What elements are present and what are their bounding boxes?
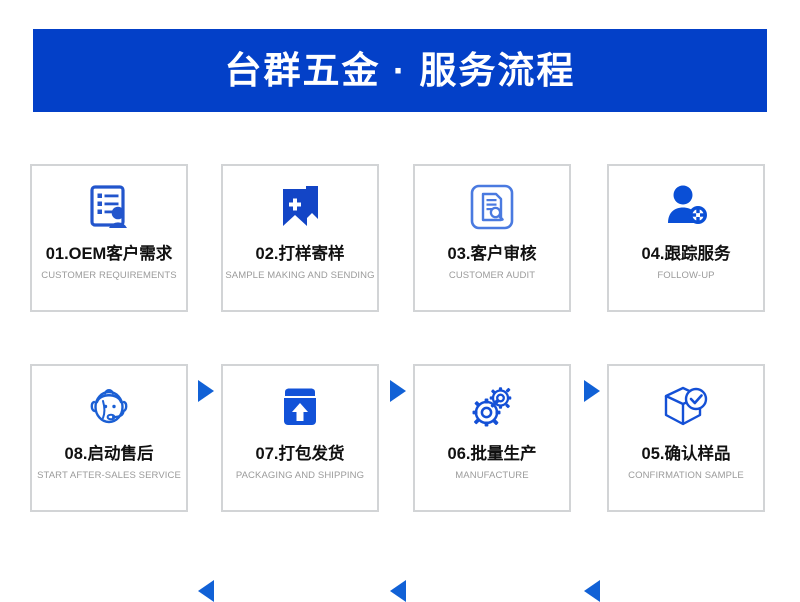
flow-step-subtitle: START AFTER-SALES SERVICE bbox=[37, 470, 181, 481]
flow-step-title: 07.打包发货 bbox=[256, 445, 345, 463]
package-upload-icon bbox=[274, 370, 326, 444]
flow-arrow-left-icon bbox=[390, 580, 406, 602]
person-badge-icon bbox=[660, 170, 712, 244]
clipboard-person-icon bbox=[83, 170, 135, 244]
flow-step-subtitle: CUSTOMER AUDIT bbox=[449, 270, 535, 281]
flow-step-subtitle: CUSTOMER REQUIREMENTS bbox=[41, 270, 176, 281]
flow-step-title: 03.客户审核 bbox=[448, 245, 537, 263]
flow-step-card-07[interactable]: 07.打包发货 PACKAGING AND SHIPPING bbox=[221, 364, 379, 512]
flow-step-card-04[interactable]: 04.跟踪服务 FOLLOW-UP bbox=[607, 164, 765, 312]
flow-step-title: 08.启动售后 bbox=[65, 445, 154, 463]
box-check-icon bbox=[660, 370, 712, 444]
flow-step-subtitle: PACKAGING AND SHIPPING bbox=[236, 470, 364, 481]
flow-step-title: 01.OEM客户需求 bbox=[46, 245, 173, 263]
flow-step-card-03[interactable]: 03.客户审核 CUSTOMER AUDIT bbox=[413, 164, 571, 312]
flow-step-subtitle: FOLLOW-UP bbox=[657, 270, 714, 281]
flow-step-subtitle: CONFIRMATION SAMPLE bbox=[628, 470, 744, 481]
flow-step-card-08[interactable]: 08.启动售后 START AFTER-SALES SERVICE bbox=[30, 364, 188, 512]
gears-icon bbox=[466, 370, 518, 444]
flow-step-title: 02.打样寄样 bbox=[256, 245, 345, 263]
flow-row-bottom: 08.启动售后 START AFTER-SALES SERVICE 07.打包发… bbox=[0, 350, 800, 525]
process-flow-diagram: 01.OEM客户需求 CUSTOMER REQUIREMENTS 02.打样寄样… bbox=[0, 150, 800, 525]
document-search-icon bbox=[466, 170, 518, 244]
page-title: 台群五金 · 服务流程 bbox=[225, 52, 576, 89]
flow-step-subtitle: SAMPLE MAKING AND SENDING bbox=[225, 270, 374, 281]
flow-arrow-left-icon bbox=[198, 580, 214, 602]
flow-arrow-left-icon bbox=[584, 580, 600, 602]
flow-step-card-05[interactable]: 05.确认样品 CONFIRMATION SAMPLE bbox=[607, 364, 765, 512]
flow-step-card-02[interactable]: 02.打样寄样 SAMPLE MAKING AND SENDING bbox=[221, 164, 379, 312]
flow-row-top: 01.OEM客户需求 CUSTOMER REQUIREMENTS 02.打样寄样… bbox=[0, 150, 800, 325]
flow-step-title: 05.确认样品 bbox=[642, 445, 731, 463]
flow-step-subtitle: MANUFACTURE bbox=[455, 470, 528, 481]
headset-support-icon bbox=[83, 370, 135, 444]
bookmark-plus-icon bbox=[274, 170, 326, 244]
flow-step-title: 04.跟踪服务 bbox=[642, 245, 731, 263]
flow-step-card-01[interactable]: 01.OEM客户需求 CUSTOMER REQUIREMENTS bbox=[30, 164, 188, 312]
flow-step-card-06[interactable]: 06.批量生产 MANUFACTURE bbox=[413, 364, 571, 512]
header-banner: 台群五金 · 服务流程 bbox=[33, 29, 767, 112]
flow-step-title: 06.批量生产 bbox=[448, 445, 537, 463]
